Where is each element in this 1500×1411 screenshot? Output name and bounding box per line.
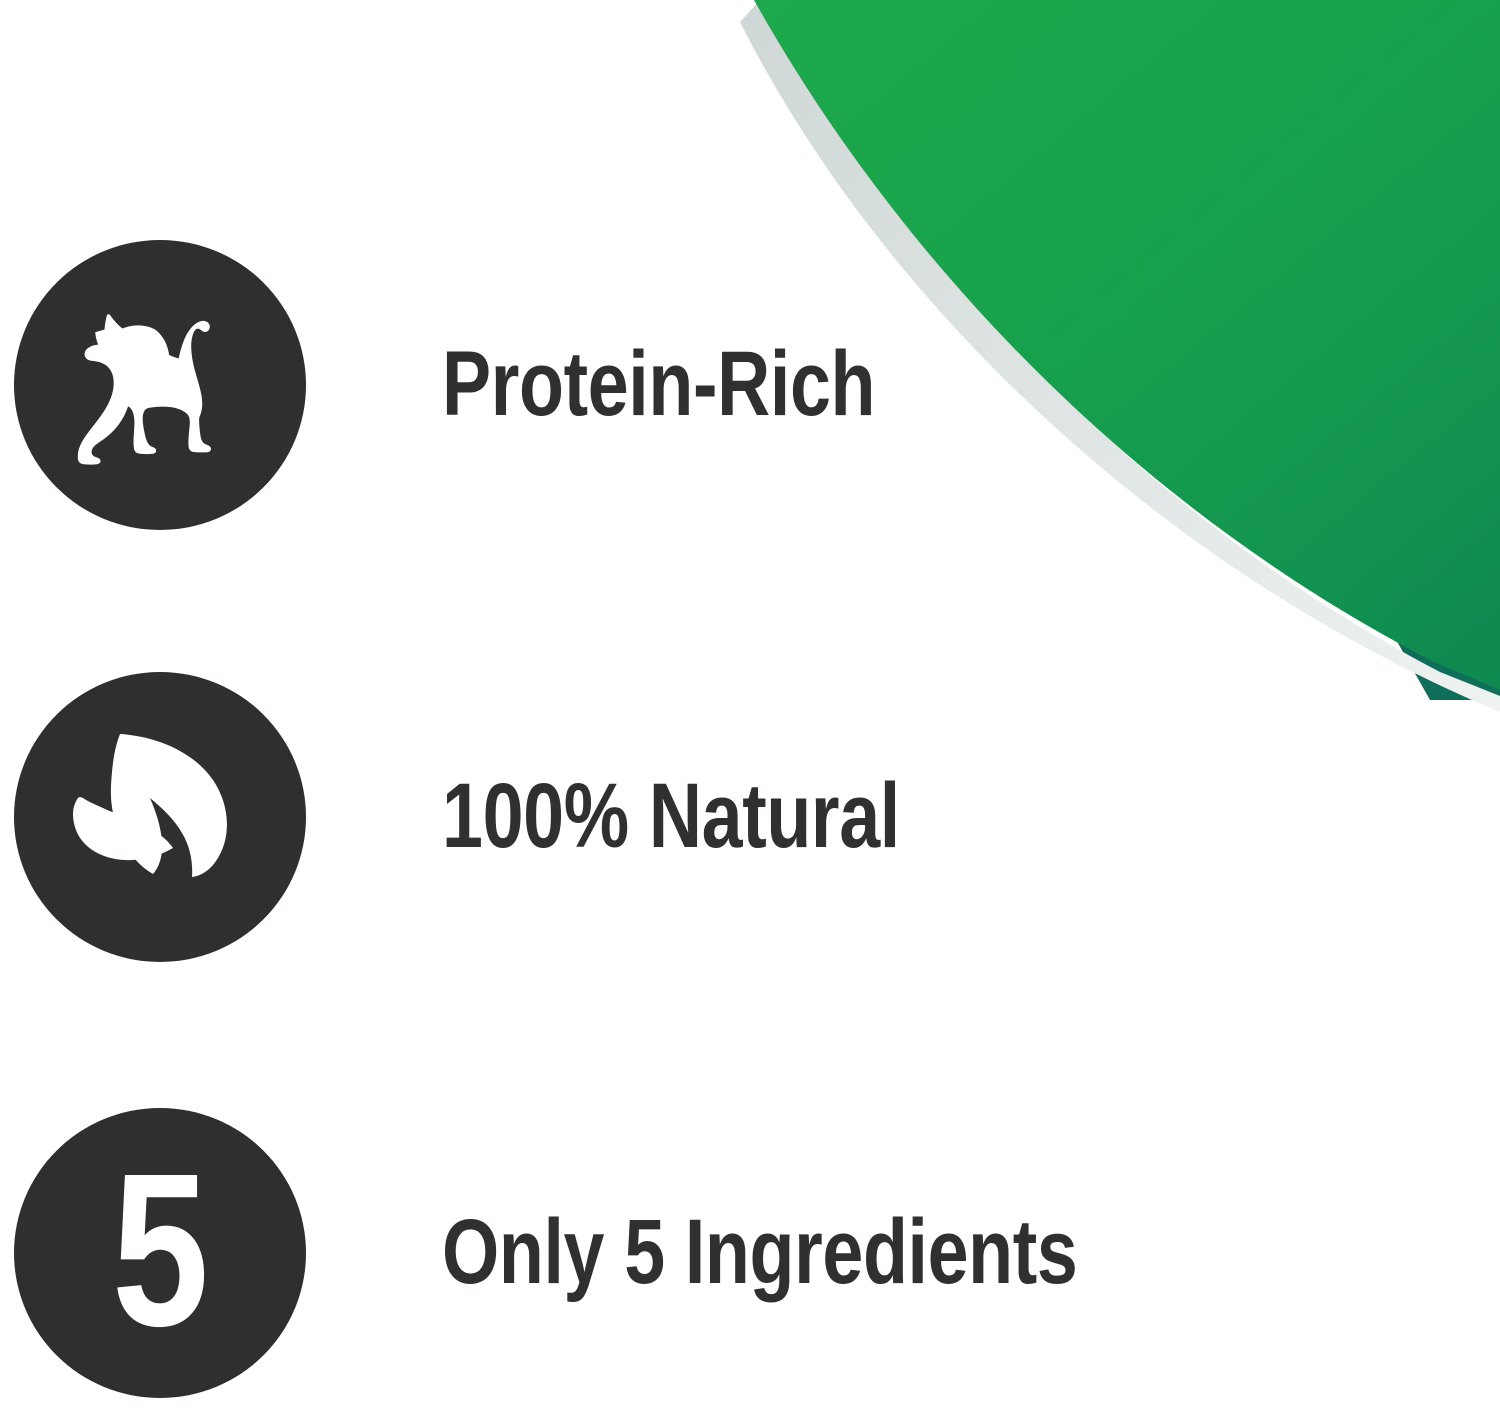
cat-icon	[60, 300, 260, 470]
feature-highlights-panel: Protein-Rich 100% Natural 5 Only 5 Ingre…	[0, 0, 1500, 1411]
badge-circle-protein-rich	[14, 240, 306, 530]
feature-label-protein-rich: Protein-Rich	[442, 338, 875, 432]
feature-label-natural: 100% Natural	[442, 770, 900, 864]
feature-row-natural: 100% Natural	[0, 672, 1200, 962]
badge-circle-ingredients: 5	[14, 1108, 306, 1398]
number-five-icon: 5	[112, 1142, 207, 1360]
feature-label-ingredients: Only 5 Ingredients	[442, 1206, 1077, 1300]
feature-row-ingredients: 5 Only 5 Ingredients	[0, 1108, 1200, 1398]
feature-row-protein-rich: Protein-Rich	[0, 240, 1200, 530]
leaf-icon	[60, 722, 260, 912]
badge-circle-natural	[14, 672, 306, 962]
